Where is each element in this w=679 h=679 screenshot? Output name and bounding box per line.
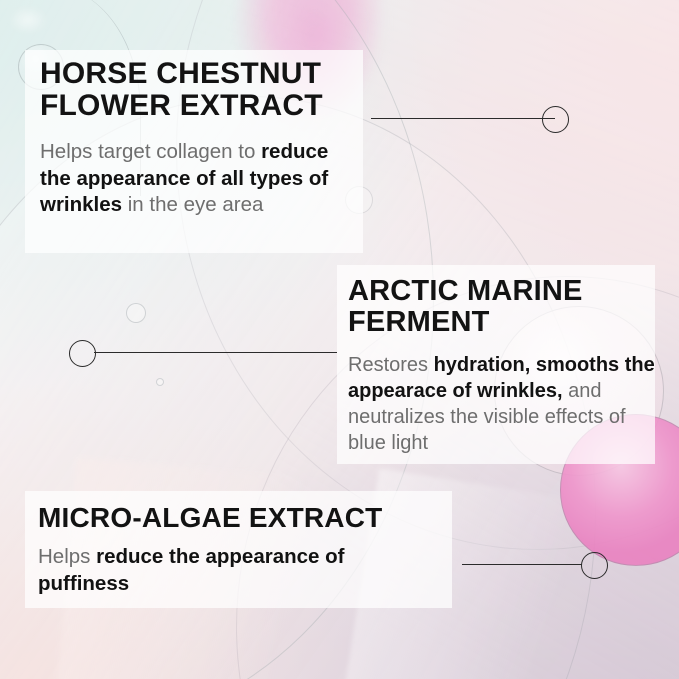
callout-title-micro-algae: MICRO-ALGAE EXTRACT [38, 503, 458, 533]
leader-knob-micro-algae [581, 552, 608, 579]
infographic-canvas: HORSE CHESTNUT FLOWER EXTRACT Helps targ… [0, 0, 679, 679]
leader-knob-horse-chestnut [542, 106, 569, 133]
callout-body-arctic-marine: Restores hydration, smooths the appearac… [348, 352, 658, 456]
tiny-bubble [126, 303, 146, 323]
leader-line-micro-algae [462, 564, 582, 565]
micro-bubble [156, 378, 164, 386]
leader-line-arctic-marine [94, 352, 337, 353]
leader-line-horse-chestnut [371, 118, 555, 119]
callout-body-micro-algae: Helps reduce the appearance of puffiness [38, 544, 438, 597]
callout-title-arctic-marine: ARCTIC MARINE FERMENT [348, 276, 648, 338]
callout-title-horse-chestnut: HORSE CHESTNUT FLOWER EXTRACT [40, 58, 360, 122]
leader-knob-arctic-marine [69, 340, 96, 367]
callout-body-horse-chestnut: Helps target collagen to reduce the appe… [40, 139, 335, 219]
